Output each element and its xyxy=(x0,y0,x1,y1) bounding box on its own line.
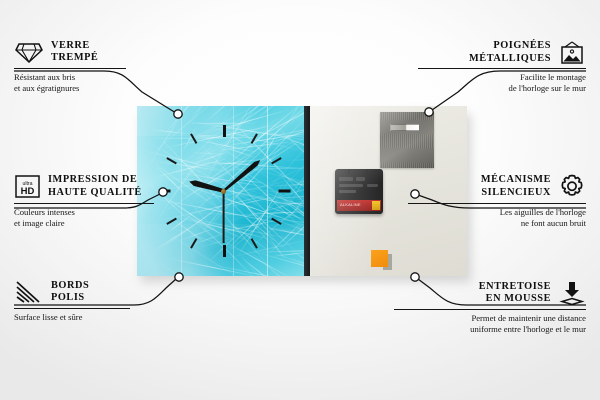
callout-verre-trempe: VERRE TREMPÉ Résistant aux bris et aux é… xyxy=(14,40,184,93)
callout-subtitle: Surface lisse et sûre xyxy=(14,312,184,323)
callout-rule xyxy=(418,68,586,69)
foam-spacer-icon xyxy=(558,280,586,306)
callout-title: POIGNÉES MÉTALLIQUES xyxy=(469,40,551,65)
callout-poignees-metalliques: POIGNÉES MÉTALLIQUES Facilite le montage… xyxy=(401,40,586,94)
clock-minute-hand xyxy=(222,158,262,193)
infographic-canvas: ALKALINE xyxy=(0,0,600,400)
battery-label: ALKALINE xyxy=(340,202,361,207)
gear-icon xyxy=(558,173,586,200)
callout-rule xyxy=(394,309,586,310)
callout-entretoise-en-mousse: ENTRETOISE EN MOUSSE Permet de maintenir… xyxy=(386,280,586,335)
mechanism-handle xyxy=(348,169,368,174)
callout-title: BORDS POLIS xyxy=(51,280,89,305)
callout-subtitle: Permet de maintenir une distance uniform… xyxy=(386,313,586,334)
battery: ALKALINE xyxy=(337,200,381,211)
foam-spacer-shadow xyxy=(383,254,392,270)
clock-mechanism: ALKALINE xyxy=(335,169,383,214)
ultra-hd-icon: ultra HD xyxy=(14,173,41,200)
callout-title: ENTRETOISE EN MOUSSE xyxy=(479,281,551,306)
callout-rule xyxy=(408,203,586,204)
svg-text:HD: HD xyxy=(21,186,35,197)
callout-subtitle: Les aiguilles de l'horloge ne font aucun… xyxy=(396,207,586,228)
callout-rule xyxy=(14,68,126,69)
callout-title: IMPRESSION DE HAUTE QUALITÉ xyxy=(48,174,142,199)
battery-terminal xyxy=(372,201,380,210)
diamond-icon xyxy=(14,41,44,64)
callout-title: MÉCANISME SILENCIEUX xyxy=(481,174,551,199)
clock-second-hand xyxy=(223,191,225,243)
clock-center-pin xyxy=(221,189,226,194)
callout-subtitle: Résistant aux bris et aux égratignures xyxy=(14,72,184,93)
callout-bords-polis: BORDS POLIS Surface lisse et sûre xyxy=(14,280,184,323)
callout-title: VERRE TREMPÉ xyxy=(51,40,98,65)
callout-rule xyxy=(14,203,154,204)
hanger-keyhole-slot xyxy=(390,124,420,131)
callout-rule xyxy=(14,308,130,309)
foam-spacer xyxy=(371,250,388,267)
callout-impression-hd: ultra HD IMPRESSION DE HAUTE QUALITÉ Cou… xyxy=(14,173,194,229)
callout-subtitle: Couleurs intenses et image claire xyxy=(14,207,194,228)
picture-hanger-icon xyxy=(558,40,586,65)
diagonal-lines-icon xyxy=(14,280,44,304)
callout-subtitle: Facilite le montage de l'horloge sur le … xyxy=(401,72,586,93)
metal-hanger-plate xyxy=(380,112,434,168)
callout-mecanisme-silencieux: MÉCANISME SILENCIEUX Les aiguilles de l'… xyxy=(396,173,586,229)
